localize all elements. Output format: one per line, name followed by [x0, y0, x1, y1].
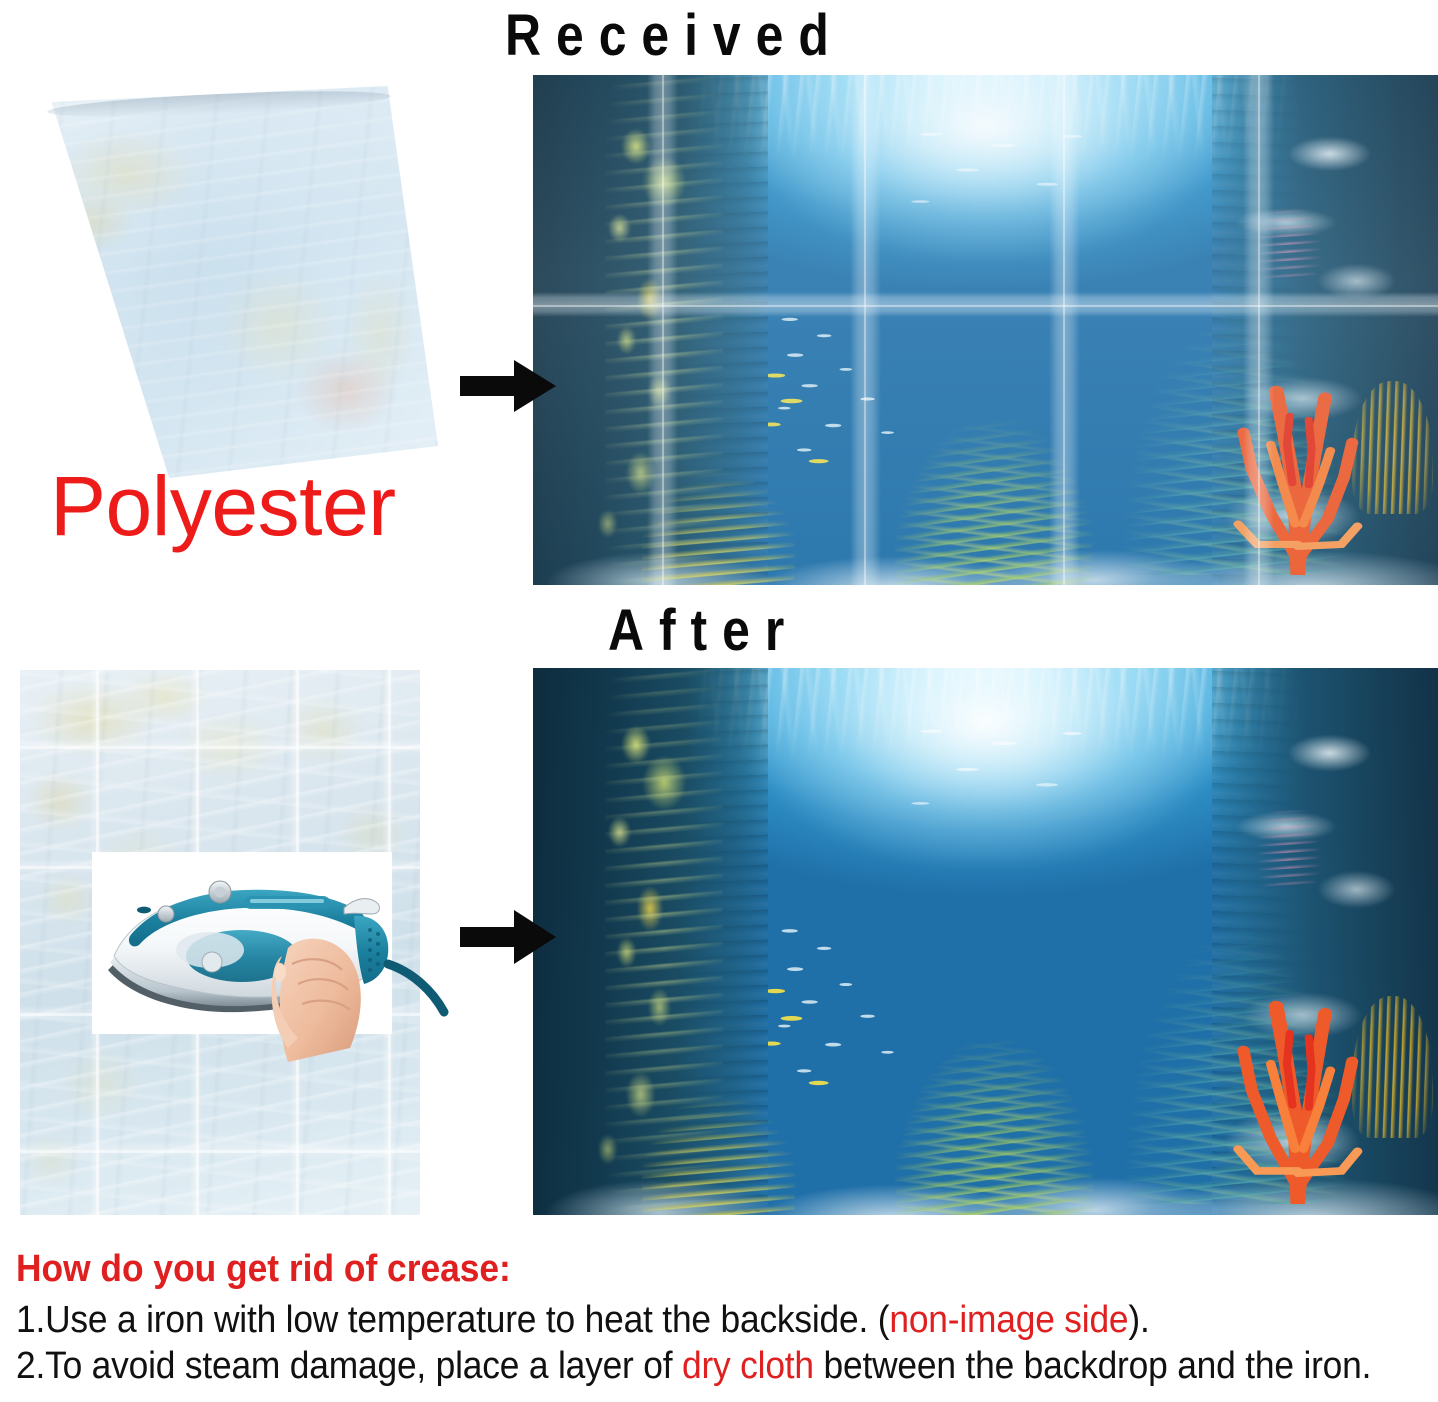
smooth-underwater-backdrop-photo	[533, 668, 1438, 1215]
step-1-part-1: 1.Use a iron with low temperature to hea…	[16, 1299, 889, 1341]
fish-school-upper	[895, 121, 1130, 223]
iron-steam-button	[158, 906, 174, 922]
arrow-right-icon	[460, 908, 556, 966]
step-2-highlight: dry cloth	[682, 1345, 814, 1387]
instruction-step-1: 1.Use a iron with low temperature to hea…	[16, 1298, 1331, 1344]
received-section-title: Received	[505, 2, 844, 69]
iron-dial	[202, 952, 222, 972]
steam-iron-photo	[92, 852, 392, 1034]
fish-school	[768, 299, 1003, 472]
fish-school	[768, 909, 1003, 1095]
creased-underwater-backdrop-photo	[533, 75, 1438, 585]
instructions-heading: How do you get rid of crease:	[16, 1248, 1331, 1291]
red-branching-coral	[1230, 371, 1366, 575]
care-instructions: How do you get rid of crease: 1.Use a ir…	[16, 1248, 1430, 1389]
instruction-step-2: 2.To avoid steam damage, place a layer o…	[16, 1344, 1331, 1390]
iron-handle-highlight	[250, 899, 324, 903]
fold-line-h	[20, 1150, 420, 1153]
step-1-part-3: ).	[1128, 1299, 1149, 1341]
fabric-wrinkles	[18, 78, 438, 478]
step-2-part-3: between the backdrop and the iron.	[814, 1345, 1371, 1387]
step-1-highlight: non-image side	[889, 1299, 1128, 1341]
iron-knob-center	[215, 887, 226, 898]
arrow-right-icon	[460, 358, 556, 414]
red-branching-coral	[1230, 985, 1366, 1204]
step-2-part-1: 2.To avoid steam damage, place a layer o…	[16, 1345, 682, 1387]
fish-school-upper	[895, 717, 1130, 826]
folded-polyester-backdrop-photo	[18, 78, 438, 478]
after-section-title: After	[608, 597, 799, 664]
polyester-material-label: Polyester	[50, 458, 396, 555]
iron-spray-nozzle	[137, 907, 151, 914]
fold-line-h	[20, 746, 420, 749]
